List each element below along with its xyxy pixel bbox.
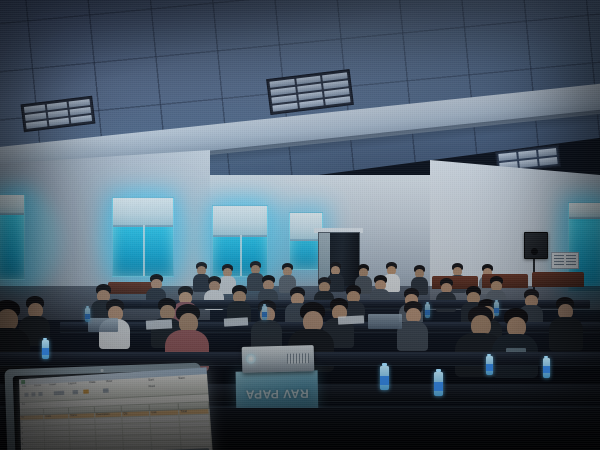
ribbon-tab-view[interactable]: View xyxy=(106,381,112,384)
ribbon-tab-home[interactable]: Home xyxy=(34,385,41,388)
spreadsheet-cell[interactable]: 4 xyxy=(21,437,45,442)
ribbon-tab-file[interactable]: File xyxy=(22,386,26,389)
spreadsheet-cell[interactable] xyxy=(45,443,70,448)
water-bottle xyxy=(42,340,49,359)
spreadsheet-cell[interactable] xyxy=(180,428,211,434)
spreadsheet-cell[interactable] xyxy=(152,441,182,447)
spreadsheet-cell[interactable]: 5 xyxy=(21,443,45,448)
ribbon-tab-insert[interactable]: Insert xyxy=(49,384,56,387)
spreadsheet-rows[interactable]: NoCodeNameDescriptionQtyUnitTotal1234567… xyxy=(20,408,213,450)
ribbon-tab-data[interactable]: Data xyxy=(89,382,95,385)
projector xyxy=(242,345,315,373)
spreadsheet-cell[interactable]: 3 xyxy=(21,432,45,437)
spreadsheet-cell[interactable]: Total xyxy=(179,408,210,414)
spreadsheet-cell[interactable] xyxy=(70,436,96,441)
ribbon-sum-label[interactable]: Sum xyxy=(178,378,185,381)
spreadsheet-cell[interactable] xyxy=(44,419,69,424)
projector-vent xyxy=(287,353,309,364)
app-icon xyxy=(21,380,25,384)
webcam-icon xyxy=(101,369,104,372)
spreadsheet-cell[interactable] xyxy=(96,436,123,441)
spreadsheet-cell[interactable] xyxy=(96,430,123,436)
projector-lens xyxy=(246,354,256,364)
spreadsheet-cell[interactable] xyxy=(45,437,70,442)
align-icon[interactable] xyxy=(54,391,65,396)
spreadsheet-cell[interactable] xyxy=(70,442,96,447)
italic-icon[interactable] xyxy=(31,392,35,396)
spreadsheet-cell[interactable] xyxy=(123,435,151,441)
spreadsheet-cell[interactable] xyxy=(180,421,211,427)
water-bottle xyxy=(434,372,443,396)
crate-label: RAV PAPA xyxy=(236,386,318,401)
water-bottle xyxy=(486,356,493,375)
spreadsheet-cell[interactable]: Unit xyxy=(150,410,179,416)
spreadsheet-cell[interactable] xyxy=(123,429,151,435)
spreadsheet-cell[interactable]: No xyxy=(20,415,44,420)
water-bottle xyxy=(380,366,389,390)
window-blind[interactable] xyxy=(0,195,24,215)
spreadsheet-cell[interactable]: Qty xyxy=(122,411,150,417)
spreadsheet-cell[interactable] xyxy=(69,419,95,425)
photo-scene: RAV PAPA File xyxy=(0,0,600,450)
spreadsheet-cell[interactable] xyxy=(96,424,123,430)
spreadsheet-cell[interactable] xyxy=(180,415,211,421)
spreadsheet-cell[interactable]: Description xyxy=(95,412,122,418)
spreadsheet-cell[interactable] xyxy=(96,442,123,447)
spreadsheet-cell[interactable] xyxy=(45,425,70,430)
spreadsheet-cell[interactable] xyxy=(150,416,180,422)
spreadsheet-cell[interactable]: 1 xyxy=(20,420,44,425)
fill-color-icon[interactable] xyxy=(83,389,89,393)
underline-icon[interactable] xyxy=(38,392,42,396)
spreadsheet-cell[interactable]: Code xyxy=(44,414,69,420)
window-blind[interactable] xyxy=(213,206,267,237)
bold-icon[interactable] xyxy=(24,393,28,397)
spreadsheet-cell[interactable] xyxy=(70,430,96,435)
window-blind[interactable] xyxy=(569,203,600,219)
percent-icon[interactable] xyxy=(103,388,109,392)
presenter-laptop[interactable]: File Home Insert Layout Data View Sort F… xyxy=(4,363,203,450)
spreadsheet-cell[interactable] xyxy=(70,424,96,430)
spreadsheet-cell[interactable] xyxy=(124,441,153,446)
water-bottle xyxy=(543,358,550,378)
spreadsheet-cell[interactable] xyxy=(123,423,151,429)
laptop-screen[interactable]: File Home Insert Layout Data View Sort F… xyxy=(19,367,213,450)
ribbon-sort-label[interactable]: Sort xyxy=(148,379,154,382)
spreadsheet-cell[interactable] xyxy=(151,422,181,428)
spreadsheet-cell[interactable] xyxy=(181,434,212,440)
spreadsheet-cell[interactable]: Name xyxy=(69,413,95,419)
ribbon-tab-layout[interactable]: Layout xyxy=(68,383,76,386)
spreadsheet-cell[interactable] xyxy=(152,435,182,441)
pa-speaker xyxy=(524,232,548,259)
ribbon-find-label[interactable]: Find xyxy=(149,386,155,389)
spreadsheet-cell[interactable] xyxy=(122,417,150,423)
spreadsheet-cell[interactable] xyxy=(181,441,212,447)
spreadsheet-cell[interactable]: 2 xyxy=(20,426,44,431)
name-box[interactable]: A1 xyxy=(22,404,25,407)
border-icon[interactable] xyxy=(73,390,78,394)
spreadsheet-cell[interactable] xyxy=(95,418,122,424)
window-blind[interactable] xyxy=(113,198,173,227)
spreadsheet-cell[interactable] xyxy=(151,428,181,434)
speaker-cone xyxy=(531,248,538,255)
spreadsheet-cell[interactable] xyxy=(45,431,70,436)
